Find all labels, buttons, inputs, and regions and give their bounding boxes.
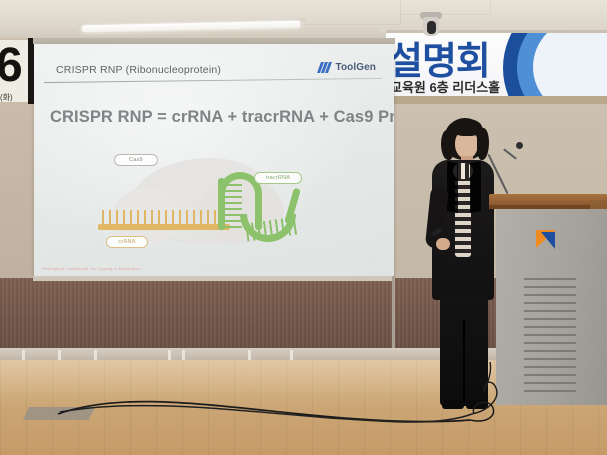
diagram-label-cas9: Cas9 [114,154,158,166]
projection-screen: CRISPR RNP (Ribonucleoprotein) ToolGen C… [34,44,394,276]
screen-bottom-bar [33,276,395,281]
banner-swoosh [533,33,607,96]
presenter-lapel [470,161,481,213]
event-banner: 설명회 교육원 6층 리더스홀 [386,33,607,96]
diagram-label-crrna: crRNA [106,236,148,248]
podium-slat-panel [524,278,576,396]
screen-support-pole [392,276,395,348]
presenter-shoe [466,400,488,409]
presenter-hair-side [441,130,454,160]
camera-lens-icon [427,21,436,34]
baseboard-vent [248,350,251,360]
presenter-lapel [447,161,458,213]
poster-number: 6 [0,38,21,93]
tracrrna-bases [224,182,242,228]
banner-subtitle: 교육원 6층 리더스홀 [390,77,500,96]
banner-bottom-edge [386,96,607,104]
baseboard-vent [94,350,97,360]
ceiling-tile [400,0,491,15]
crrna-strand [98,224,230,230]
baseboard-vent [168,350,171,360]
kt-logo-blue [541,232,555,249]
poster-day: (화) [0,92,13,103]
presenter-shoe [442,400,464,409]
baseboard-vent [182,350,185,360]
baseboard-vent [58,350,61,360]
slide-title: CRISPR RNP (Ribonucleoprotein) [56,64,221,76]
crrna-bases [102,210,226,225]
baseboard-vent [22,350,25,360]
presenter-hand [436,238,450,250]
presenter-leg-gap [463,320,465,406]
slide-confidential-footer: Privileged & Confidential. No Copying or… [42,266,141,271]
toolgen-logo-icon [319,62,332,73]
toolgen-logo-text: ToolGen [335,62,376,73]
left-poster: 6 (화) [0,40,28,102]
presentation-room-photo: 6 (화) 설명회 교육원 6층 리더스홀 CRISPR RNP (Ribonu… [0,0,607,455]
baseboard-vent [290,350,293,360]
diagram-label-tracrrna: tracrRNA [254,172,302,184]
slide-page-number: 30 [366,253,380,268]
crispr-rnp-diagram: Cas9 tracrRNA crRNA [90,148,330,266]
slide-equation: CRISPR RNP = crRNA + tracrRNA + Cas9 Pro… [50,108,394,127]
toolgen-logo: ToolGen [319,62,376,73]
kt-logo-icon [536,230,558,250]
floor-cable-plate [23,407,95,420]
microphone-icon [516,142,523,149]
